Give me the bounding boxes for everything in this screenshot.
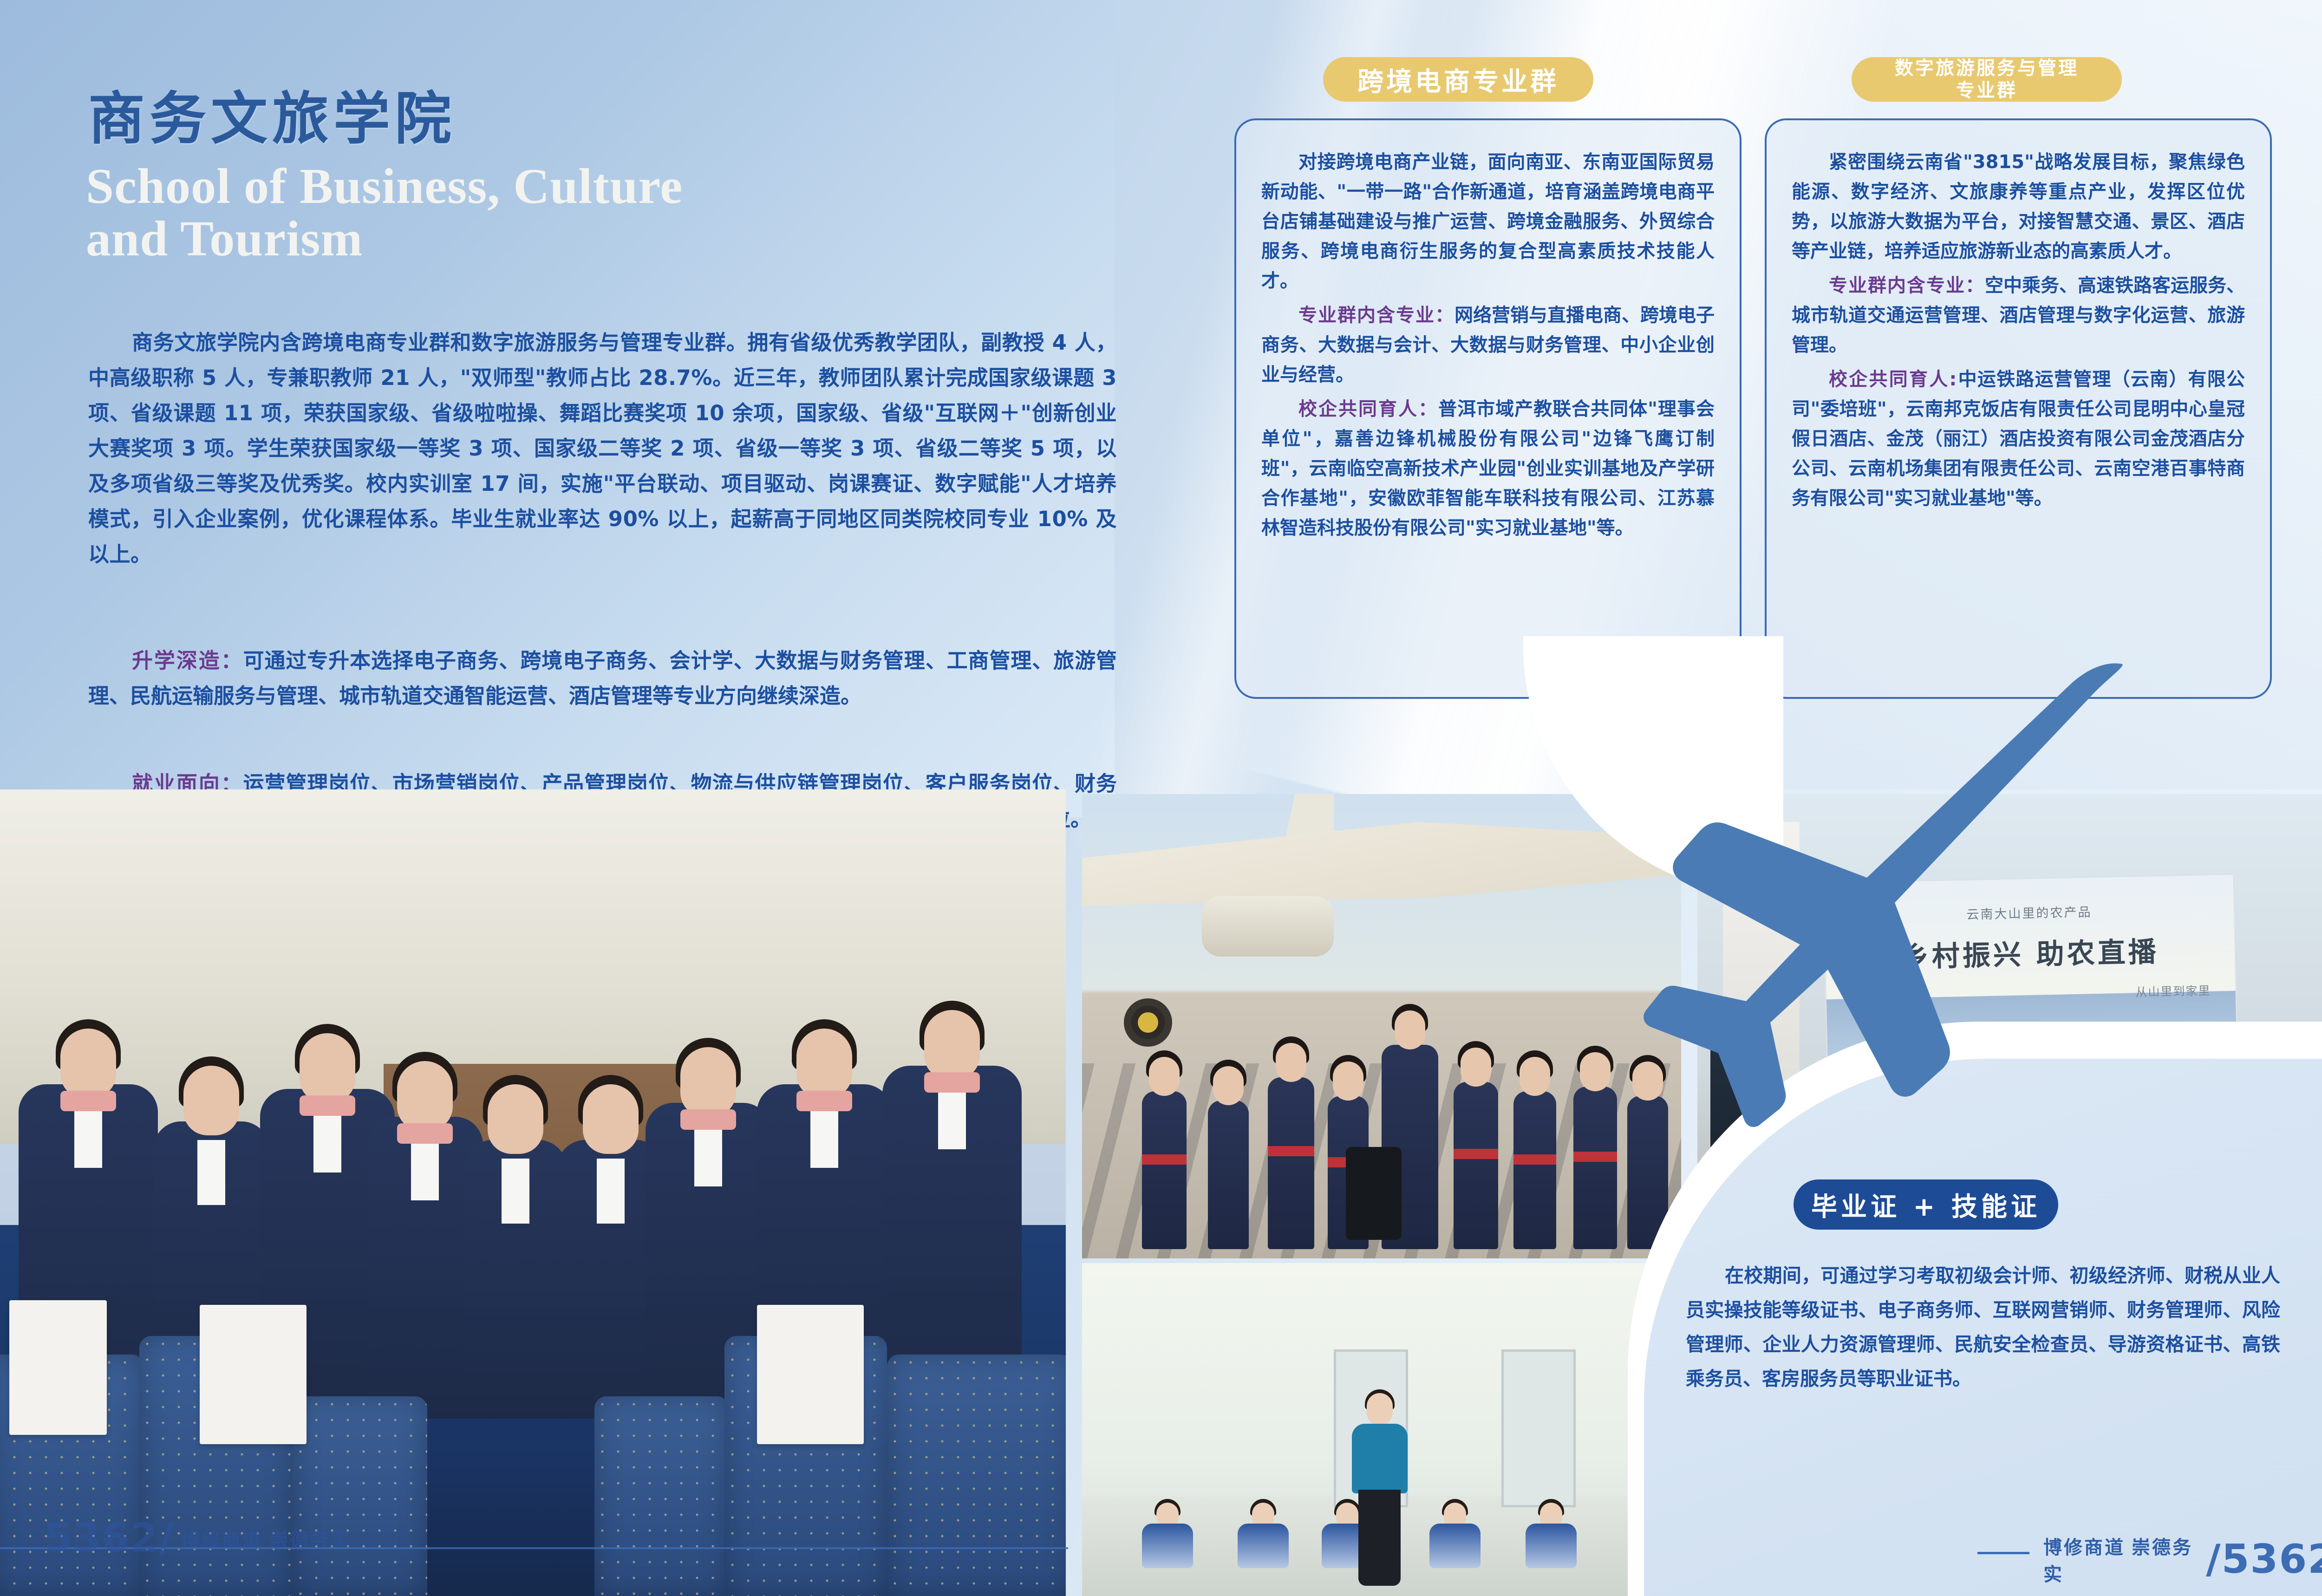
brochure-page: 商务文旅学院 School of Business, Culture and T… [0, 0, 2322, 1596]
page-title-english-line2: and Tourism [86, 213, 1108, 265]
footer-motto: 博修商道 崇德务实 [2043, 1532, 2199, 1586]
card2-intro: 紧密围绕云南省"3815"战略发展目标，聚焦绿色能源、数字经济、文旅康养等重点产… [1792, 147, 2245, 266]
photo-aircraft-cabin [0, 789, 1066, 1596]
page-title-chinese: 商务文旅学院 [88, 91, 456, 147]
rolling-suitcase [1346, 1147, 1402, 1240]
seated-dancer [1238, 1503, 1289, 1583]
school-intro-paragraph: 商务文旅学院内含跨境电商专业群和数字旅游服务与管理专业群。拥有省级优秀教学团队，… [88, 325, 1117, 572]
tab-digital-tourism[interactable]: 数字旅游服务与管理 专业群 [1852, 57, 2122, 102]
student-walker [1268, 1077, 1314, 1249]
tab-cross-border-ecommerce[interactable]: 跨境电商专业群 [1323, 57, 1593, 102]
studio-door [1501, 1349, 1576, 1507]
crew-member [464, 1140, 567, 1419]
card1-intro: 对接跨境电商产业链，面向南亚、东南亚国际贸易新动能、"一带一路"合作新通道，培育… [1261, 147, 1715, 296]
aircraft-engine [1202, 896, 1334, 957]
banner-subtitle-bottom: 从山里到家里 [2135, 982, 2211, 1000]
seated-dancer [1526, 1503, 1577, 1583]
page-title-english-line1: School of Business, Culture [86, 160, 1108, 213]
lead-dancer [1352, 1393, 1408, 1586]
footer-left: 5362/ 博修商道 崇德务实 [44, 1515, 351, 1561]
card1-majors: 专业群内含专业：网络营销与直播电商、跨境电子商务、大数据与会计、大数据与财务管理… [1261, 300, 1715, 390]
footer-page-number: /5362 [2206, 1536, 2322, 1583]
card-digital-tourism: 紧密围绕云南省"3815"战略发展目标，聚焦绿色能源、数字经济、文旅康养等重点产… [1765, 118, 2272, 699]
student-walker [1142, 1091, 1187, 1249]
student-walker [1208, 1101, 1249, 1249]
seat-headrest-cover [757, 1305, 864, 1444]
cabin-seat [594, 1396, 729, 1596]
further-study-label: 升学深造： [132, 648, 243, 673]
card2-majors-label: 专业群内含专业： [1829, 275, 1985, 296]
aircraft-wheel [1124, 998, 1172, 1047]
card-cross-border-ecommerce: 对接跨境电商产业链，面向南亚、东南亚国际贸易新动能、"一带一路"合作新通道，培育… [1234, 118, 1741, 699]
airplane-icon [1588, 659, 2146, 1152]
card2-partners: 校企共同育人:中运铁路运营管理（云南）有限公司"委培班"，云南邦克饭店有限责任公… [1792, 365, 2245, 513]
card1-partners: 校企共同育人：普洱市域产教联合共同体"理事会单位"，嘉善边锋机械股份有限公司"边… [1261, 394, 1715, 543]
student-walker [1513, 1091, 1556, 1249]
card2-partners-label: 校企共同育人: [1829, 369, 1957, 390]
cabin-seat [887, 1355, 1066, 1596]
footer-motto-left: 博修商道 崇德务实 [181, 1524, 351, 1551]
certificate-description: 在校期间，可通过学习考取初级会计师、初级经济师、财税从业人员实操技能等级证书、电… [1686, 1258, 2280, 1396]
student-walker [1454, 1082, 1498, 1249]
footer-divider-right [1977, 1552, 2029, 1554]
tab-digital-tourism-line1: 数字旅游服务与管理 [1895, 57, 2079, 79]
page-title-english: School of Business, Culture and Tourism [86, 160, 1108, 266]
further-study-block: 升学深造：可通过专升本选择电子商务、跨境电子商务、会计学、大数据与财务管理、工商… [88, 643, 1117, 714]
card1-partners-label: 校企共同育人： [1298, 398, 1438, 420]
seat-headrest-cover [200, 1305, 307, 1444]
photo-dance-class [1082, 1263, 1681, 1596]
card1-majors-label: 专业群内含专业： [1298, 305, 1455, 326]
cabin-seat [293, 1396, 427, 1596]
seated-dancer [1429, 1503, 1481, 1583]
card2-majors: 专业群内含专业：空中乘务、高速铁路客运服务、城市轨道交通运营管理、酒店管理与数字… [1792, 271, 2245, 360]
tab-digital-tourism-line2: 专业群 [1895, 79, 2079, 102]
seat-headrest-cover [9, 1300, 107, 1435]
certificate-badge[interactable]: 毕业证 + 技能证 [1794, 1179, 2058, 1230]
footer-right: 博修商道 崇德务实 /5362 [2043, 1532, 2322, 1586]
footer-page-number-left: 5362/ [44, 1515, 175, 1561]
seated-dancer [1142, 1503, 1193, 1583]
